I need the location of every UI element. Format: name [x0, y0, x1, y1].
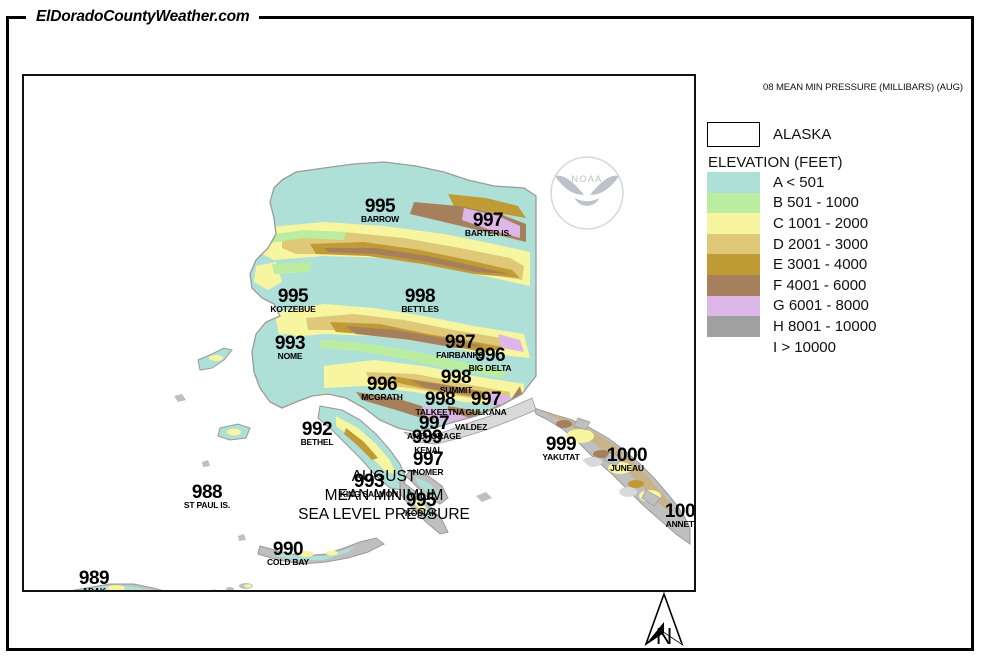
site-title-banner: ElDoradoCountyWeather.com — [26, 6, 259, 28]
legend-row-e: E 3001 - 4000 — [707, 254, 876, 275]
legend-swatch-a — [707, 172, 760, 193]
legend-swatch-e — [707, 254, 760, 275]
legend-row-f: F 4001 - 6000 — [707, 275, 876, 296]
noaa-logo-watermark: NOAA — [548, 154, 626, 232]
caption-line-3: SEA LEVEL PRESSURE — [259, 506, 509, 525]
legend-title: ELEVATION (FEET) — [708, 154, 876, 171]
legend-row-g: G 6001 - 8000 — [707, 296, 876, 317]
legend-label-b: B 501 - 1000 — [773, 194, 859, 211]
alaska-outline-swatch — [707, 122, 760, 147]
legend-label-d: D 2001 - 3000 — [773, 236, 868, 253]
legend-label-g: G 6001 - 8000 — [773, 297, 869, 314]
north-label: N — [640, 625, 688, 648]
legend-label-h: H 8001 - 10000 — [773, 318, 876, 335]
legend-swatch-i — [707, 337, 760, 358]
legend-label-i: I > 10000 — [773, 339, 836, 356]
legend-label-f: F 4001 - 6000 — [773, 277, 866, 294]
legend-label-e: E 3001 - 4000 — [773, 256, 867, 273]
svg-text:NOAA: NOAA — [571, 174, 602, 184]
legend-row-b: B 501 - 1000 — [707, 193, 876, 214]
legend-swatch-h — [707, 316, 760, 337]
map-page: ElDoradoCountyWeather.com — [0, 0, 981, 660]
legend-swatch-f — [707, 275, 760, 296]
legend-label-a: A < 501 — [773, 174, 824, 191]
panel-heading: 08 MEAN MIN PRESSURE (MILLIBARS) (AUG) — [763, 82, 963, 93]
legend-row-d: D 2001 - 3000 — [707, 234, 876, 255]
legend-swatch-g — [707, 296, 760, 317]
legend-swatch-b — [707, 193, 760, 214]
site-title: ElDoradoCountyWeather.com — [36, 8, 249, 26]
legend-row-a: A < 501 — [707, 172, 876, 193]
legend-rows: A < 501B 501 - 1000C 1001 - 2000D 2001 -… — [707, 172, 876, 357]
map-frame[interactable]: NOAA 995BARROW997BARTER IS.995KOTZEBUE99… — [22, 74, 696, 592]
mainland-terrain — [244, 156, 544, 436]
legend-label-c: C 1001 - 2000 — [773, 215, 868, 232]
legend-swatch-c — [707, 213, 760, 234]
legend-row-h: H 8001 - 10000 — [707, 316, 876, 337]
legend: ALASKA ELEVATION (FEET) A < 501B 501 - 1… — [707, 121, 876, 357]
southeast-panhandle — [534, 408, 690, 544]
legend-row-i: I > 10000 — [707, 337, 876, 358]
legend-row-c: C 1001 - 2000 — [707, 213, 876, 234]
alaska-label: ALASKA — [773, 126, 831, 143]
legend-area-row: ALASKA — [707, 121, 876, 148]
caption-line-1: AUGUST — [259, 468, 509, 487]
legend-swatch-d — [707, 234, 760, 255]
map-canvas[interactable]: NOAA 995BARROW997BARTER IS.995KOTZEBUE99… — [24, 76, 694, 590]
caption-line-2: MEAN MINIMUM — [259, 487, 509, 506]
map-caption: AUGUST MEAN MINIMUM SEA LEVEL PRESSURE — [259, 468, 509, 525]
aleutian-islands — [64, 583, 253, 590]
